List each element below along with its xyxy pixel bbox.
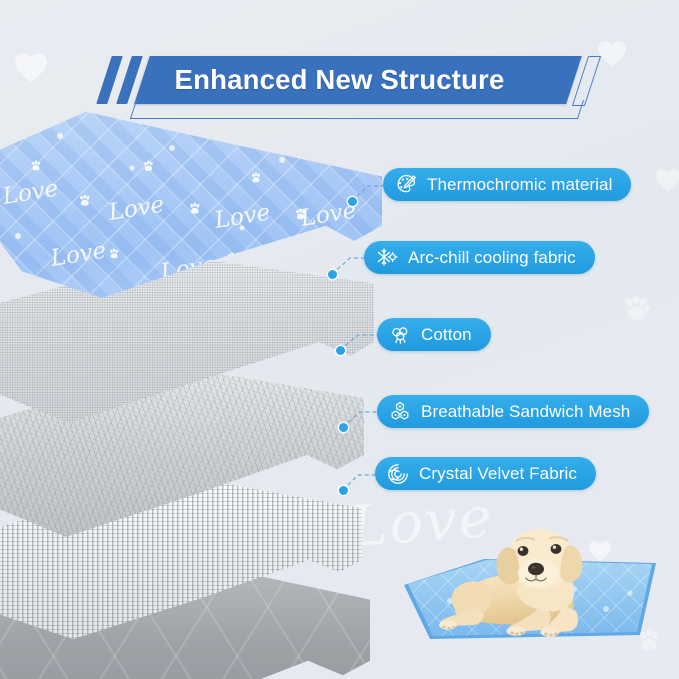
callout-breathable-sandwich-mesh[interactable]: Breathable Sandwich Mesh [377, 395, 649, 428]
connector-dot [348, 197, 357, 206]
paint-palette-icon [394, 173, 418, 197]
callout-label: Crystal Velvet Fabric [419, 465, 577, 482]
love-paw-print-motif: Love Love Love Love Love Love [0, 108, 382, 298]
honeycomb-mesh-icon [388, 400, 412, 424]
fabric-layer-stack: Love Love Love Love Love Love [0, 108, 402, 628]
infographic-canvas: Love Love Enhanced New Structure [0, 0, 679, 679]
callout-arc-chill-cooling-fabric[interactable]: Arc-chill cooling fabric [364, 241, 595, 274]
connector-dot [336, 346, 345, 355]
paw-print-icon [621, 294, 651, 329]
connector-dot [339, 423, 348, 432]
callout-label: Cotton [421, 326, 472, 343]
callout-thermochromic-material[interactable]: Thermochromic material [383, 168, 631, 201]
callout-cotton[interactable]: Cotton [377, 318, 491, 351]
callout-label: Breathable Sandwich Mesh [421, 403, 630, 420]
svg-text:Love: Love [48, 238, 108, 273]
callout-label: Arc-chill cooling fabric [408, 249, 576, 266]
svg-text:Love: Love [106, 192, 166, 227]
cotton-boll-icon [388, 323, 412, 347]
connector-dot [328, 270, 337, 279]
header-banner: Enhanced New Structure [0, 22, 679, 100]
svg-text:Love: Love [158, 252, 218, 287]
yarn-spiral-icon [386, 462, 410, 486]
heart-icon [655, 168, 679, 192]
thermochromic-layer: Love Love Love Love Love Love [0, 108, 382, 298]
connector-dot [339, 486, 348, 495]
svg-text:Love: Love [0, 176, 60, 211]
snowflake-sun-icon [375, 246, 399, 270]
puppy-on-cooling-mat [388, 497, 664, 647]
callout-crystal-velvet-fabric[interactable]: Crystal Velvet Fabric [375, 457, 596, 490]
callout-label: Thermochromic material [427, 176, 612, 193]
page-title: Enhanced New Structure [0, 55, 679, 105]
